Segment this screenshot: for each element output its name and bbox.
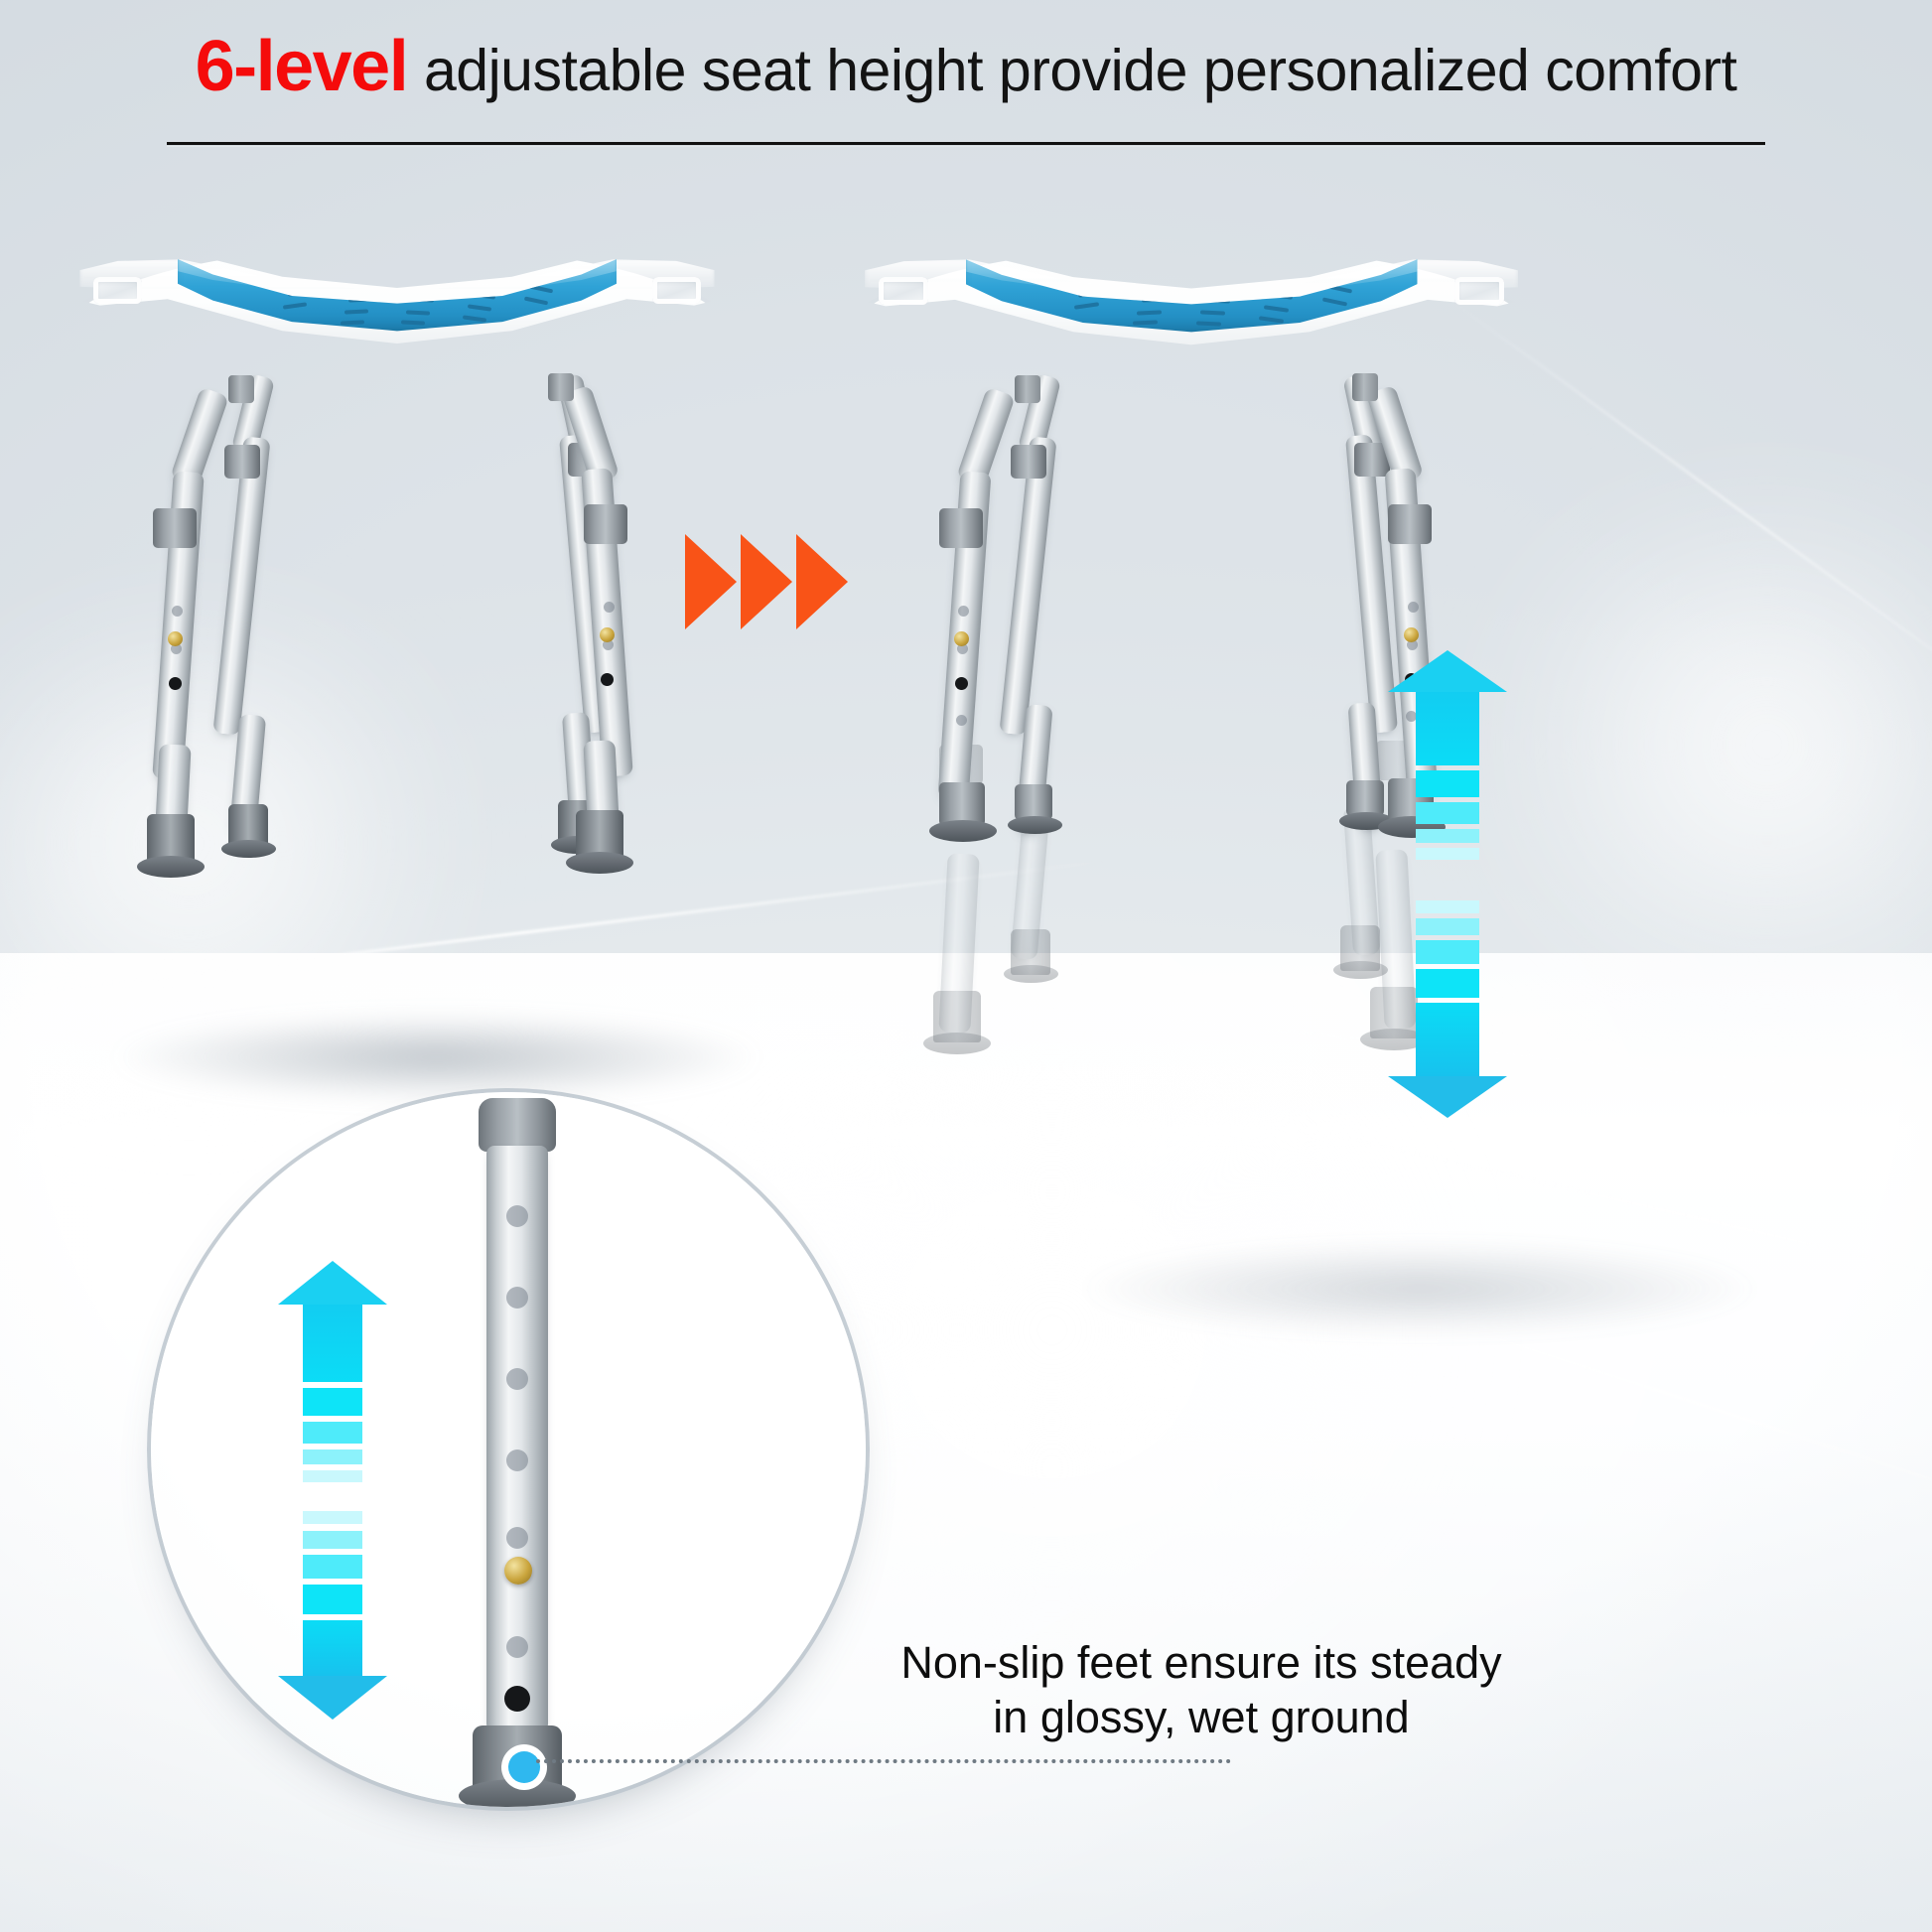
drain-slot bbox=[401, 321, 425, 326]
drain-slot bbox=[1264, 305, 1289, 312]
drain-slot bbox=[1137, 310, 1162, 315]
arrow-up-segment-2 bbox=[1416, 802, 1479, 824]
drain-slot bbox=[406, 310, 430, 315]
drain-slot bbox=[1322, 297, 1347, 306]
arrow-down-shaft bbox=[303, 1620, 362, 1676]
leg-collar[interactable] bbox=[584, 504, 627, 544]
drain-slot bbox=[524, 297, 549, 306]
magnified-leg-assembly bbox=[447, 1098, 586, 1807]
headline-accent: 6-level bbox=[196, 27, 408, 106]
arrow-up-segment-1 bbox=[1416, 770, 1479, 797]
adjust-hole-2 bbox=[506, 1527, 528, 1549]
product-infographic-canvas: 6-level adjustable seat height provide p… bbox=[0, 0, 1932, 1932]
foot-highlight-dot bbox=[508, 1751, 540, 1783]
arrow-up-segment-1 bbox=[303, 1388, 362, 1416]
drain-slot bbox=[468, 304, 492, 311]
adjust-hole-4 bbox=[506, 1368, 528, 1390]
seat-handle-right[interactable] bbox=[652, 277, 701, 304]
seat-assembly bbox=[60, 248, 735, 407]
feature-caption: Non-slip feet ensure its steady in gloss… bbox=[874, 1636, 1529, 1745]
leg-detail-magnifier bbox=[151, 1092, 866, 1807]
height-adjust-double-arrow bbox=[278, 1261, 387, 1718]
adjust-hole-open bbox=[504, 1686, 530, 1712]
drain-slot bbox=[1259, 316, 1284, 323]
leg-clip bbox=[1352, 373, 1378, 401]
adjust-hole-3 bbox=[506, 1449, 528, 1471]
leg-collar[interactable] bbox=[153, 508, 197, 548]
arrow-down-segment-1 bbox=[303, 1585, 362, 1614]
non-slip-foot-base bbox=[459, 1779, 576, 1807]
drain-slot bbox=[345, 309, 368, 314]
adjust-screw[interactable] bbox=[600, 627, 615, 642]
arrow-up-segment-4 bbox=[1416, 848, 1479, 860]
arrow-down-segment-2 bbox=[303, 1555, 362, 1579]
arrow-down-segment-3 bbox=[1416, 918, 1479, 935]
arrow-down-segment-4 bbox=[1416, 900, 1479, 913]
seat-handle-left[interactable] bbox=[93, 277, 142, 304]
adjust-hole-6 bbox=[506, 1205, 528, 1227]
header-divider bbox=[167, 142, 1765, 147]
adjust-screw[interactable] bbox=[1404, 627, 1419, 642]
leg-collar[interactable] bbox=[939, 508, 983, 548]
drain-slot bbox=[340, 320, 363, 325]
arrow-up-segment-3 bbox=[1416, 829, 1479, 843]
arrow-down-shaft bbox=[1416, 1003, 1479, 1076]
leg-top-cap bbox=[479, 1098, 556, 1152]
seat-assembly bbox=[844, 248, 1539, 409]
arrow-up-shaft bbox=[303, 1305, 362, 1382]
adjust-hole-1 bbox=[506, 1636, 528, 1658]
height-adjust-double-arrow bbox=[1388, 650, 1507, 1117]
callout-leader-line bbox=[536, 1759, 1231, 1763]
shower-stool-low-position[interactable] bbox=[60, 248, 774, 1112]
headline-text: adjustable seat height provide personali… bbox=[424, 38, 1736, 103]
arrow-down-segment-2 bbox=[1416, 940, 1479, 964]
adjust-screw[interactable] bbox=[168, 631, 183, 646]
arrow-down-head-icon bbox=[278, 1676, 387, 1720]
drain-slot bbox=[283, 302, 308, 309]
arrow-down-head-icon bbox=[1388, 1076, 1507, 1118]
caption-line-2: in glossy, wet ground bbox=[874, 1691, 1529, 1745]
chevron-icon bbox=[741, 534, 792, 629]
arrow-up-segment-4 bbox=[303, 1470, 362, 1482]
leg-collar[interactable] bbox=[1388, 504, 1432, 544]
arrow-up-segment-2 bbox=[303, 1422, 362, 1444]
arrow-down-segment-4 bbox=[303, 1511, 362, 1524]
arrow-down-segment-3 bbox=[303, 1531, 362, 1549]
arrow-down-segment-1 bbox=[1416, 969, 1479, 998]
drain-slot bbox=[1195, 322, 1220, 327]
chevron-icon bbox=[685, 534, 737, 629]
drain-slot bbox=[463, 315, 487, 322]
seat-handle-right[interactable] bbox=[1454, 277, 1504, 305]
arrow-up-segment-3 bbox=[303, 1449, 362, 1464]
non-slip-foot-base bbox=[566, 852, 633, 874]
arrow-up-head-icon bbox=[278, 1261, 387, 1305]
caption-line-1: Non-slip feet ensure its steady bbox=[874, 1636, 1529, 1691]
seat-handle-left[interactable] bbox=[879, 277, 928, 305]
arrow-up-shaft bbox=[1416, 692, 1479, 765]
chevron-icon bbox=[796, 534, 848, 629]
headline-block: 6-level adjustable seat height provide p… bbox=[0, 30, 1932, 105]
chevron-arrow-right bbox=[685, 534, 848, 629]
arrow-up-head-icon bbox=[1388, 650, 1507, 692]
non-slip-foot-base bbox=[137, 856, 205, 878]
leg-clip bbox=[548, 373, 574, 401]
drain-slot bbox=[1200, 311, 1225, 316]
leg-clip bbox=[1015, 375, 1040, 403]
drain-slot bbox=[1074, 303, 1099, 310]
adjust-hole-5 bbox=[506, 1287, 528, 1309]
leg-clip bbox=[228, 375, 254, 403]
drain-slot bbox=[1133, 321, 1158, 326]
adjust-screw[interactable] bbox=[504, 1557, 532, 1585]
non-slip-foot-base bbox=[929, 820, 997, 842]
adjust-screw[interactable] bbox=[954, 631, 969, 646]
